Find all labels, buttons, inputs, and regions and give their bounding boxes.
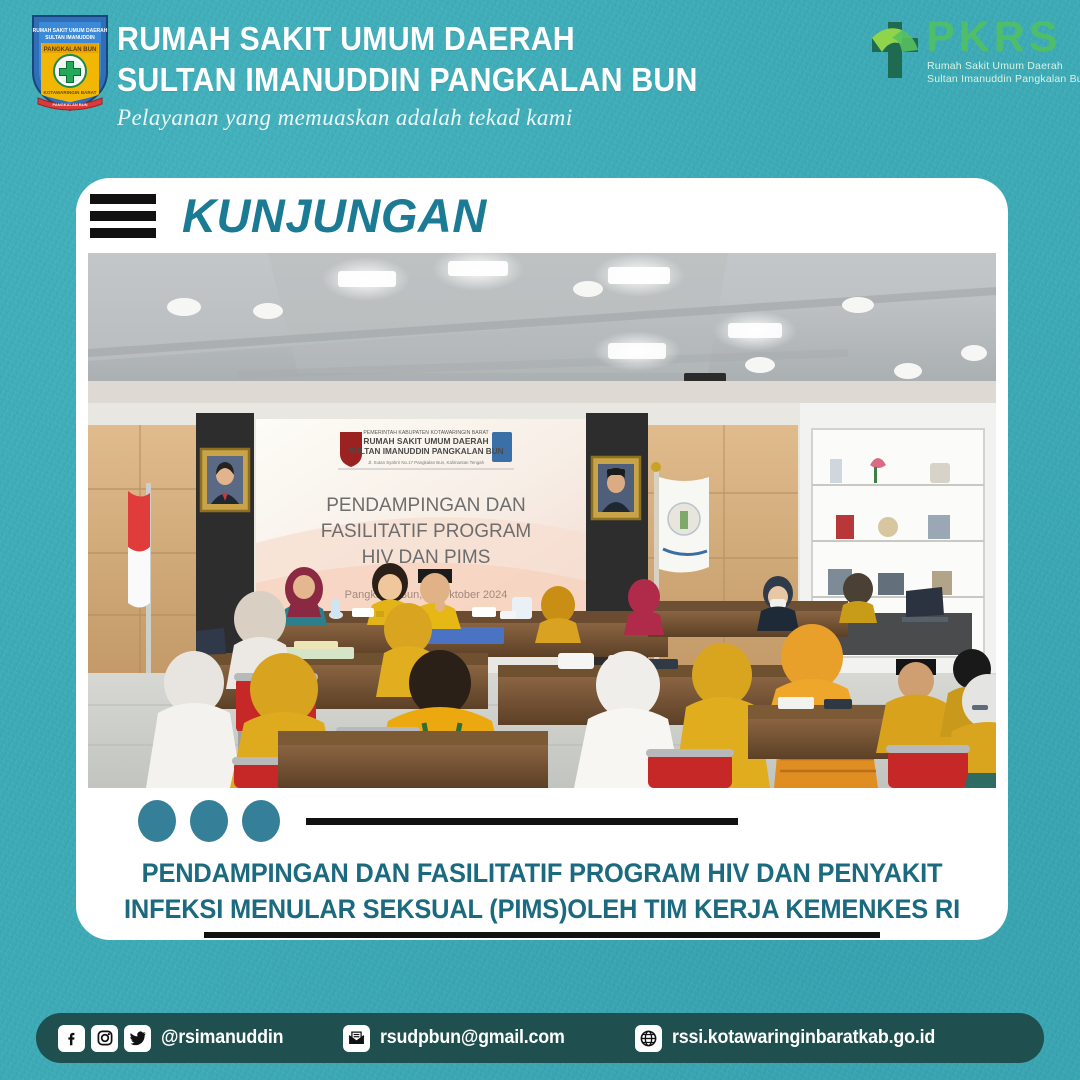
caption-bottom-rule <box>204 932 880 938</box>
pkrs-logo: PKRS Rumah Sakit Umum Daerah Sultan Iman… <box>868 18 1058 90</box>
caption-decoration <box>138 800 738 842</box>
facebook-icon[interactable] <box>58 1025 85 1052</box>
pkrs-cross-icon <box>868 20 922 80</box>
caption-dot-3 <box>242 800 280 842</box>
hospital-shield-logo: RUMAH SAKIT UMUM DAERAH SULTAN IMANUDDIN… <box>28 10 112 114</box>
svg-text:RUMAH SAKIT UMUM DAERAH: RUMAH SAKIT UMUM DAERAH <box>363 436 488 446</box>
instagram-icon[interactable] <box>91 1025 118 1052</box>
svg-text:RUMAH SAKIT UMUM DAERAH: RUMAH SAKIT UMUM DAERAH <box>33 28 108 34</box>
card-title-row: KUNJUNGAN <box>76 178 1008 253</box>
header-tagline: Pelayanan yang memuaskan adalah tekad ka… <box>117 105 677 131</box>
caption-top-rule <box>306 818 738 825</box>
twitter-icon[interactable] <box>124 1025 151 1052</box>
social-handle[interactable]: @rsimanuddin <box>161 1027 283 1049</box>
envelope-icon[interactable] <box>343 1025 370 1052</box>
caption-dot-1 <box>138 800 176 842</box>
header-title-line1: RUMAH SAKIT UMUM DAERAH <box>117 22 632 55</box>
website-text[interactable]: rssi.kotawaringinbaratkab.go.id <box>672 1027 935 1049</box>
svg-text:SULTAN IMANUDDIN: SULTAN IMANUDDIN <box>45 35 95 41</box>
content-card: KUNJUNGAN <box>76 178 1008 940</box>
caption-line-2: INFEKSI MENULAR SEKSUAL (PIMS)OLEH TIM K… <box>95 894 990 925</box>
hamburger-menu-icon[interactable] <box>90 194 156 238</box>
globe-icon[interactable] <box>635 1025 662 1052</box>
poster-header: RUMAH SAKIT UMUM DAERAH SULTAN IMANUDDIN… <box>0 0 1080 152</box>
pkrs-subtitle-line1: Rumah Sakit Umum Daerah <box>927 60 1063 72</box>
svg-text:Jl. Sutan Syahrir No.17 Pangka: Jl. Sutan Syahrir No.17 Pangkalan Bun, K… <box>368 460 485 465</box>
svg-text:FASILITATIF PROGRAM: FASILITATIF PROGRAM <box>321 521 531 542</box>
header-title-line2: SULTAN IMANUDDIN PANGKALAN BUN <box>117 63 632 96</box>
svg-text:PENDAMPINGAN DAN: PENDAMPINGAN DAN <box>326 495 526 516</box>
poster-canvas: RUMAH SAKIT UMUM DAERAH SULTAN IMANUDDIN… <box>0 0 1080 1080</box>
svg-text:KOTAWARINGIN BARAT: KOTAWARINGIN BARAT <box>44 90 97 95</box>
caption-block: PENDAMPINGAN DAN FASILITATIF PROGRAM HIV… <box>76 792 1008 940</box>
pkrs-subtitle-line2: Sultan Imanuddin Pangkalan Bun <box>927 73 1080 85</box>
svg-text:PANGKALAN BUN: PANGKALAN BUN <box>44 47 97 53</box>
header-title-group: RUMAH SAKIT UMUM DAERAH SULTAN IMANUDDIN… <box>117 22 677 131</box>
hamburger-bar-3 <box>90 228 156 238</box>
caption-line-1: PENDAMPINGAN DAN FASILITATIF PROGRAM HIV… <box>95 858 990 889</box>
hamburger-bar-2 <box>90 211 156 221</box>
contact-footer: @rsimanuddin rsudpbun@gmail.com rssi.k <box>36 1013 1044 1063</box>
caption-dot-2 <box>190 800 228 842</box>
page-title: KUNJUNGAN <box>182 188 487 243</box>
event-photo: PEMERINTAH KABUPATEN KOTAWARINGIN BARAT … <box>88 253 996 788</box>
pkrs-wordmark: PKRS <box>926 15 1061 59</box>
hamburger-bar-1 <box>90 194 156 204</box>
svg-text:HIV DAN PIMS: HIV DAN PIMS <box>362 547 491 568</box>
svg-text:SULTAN IMANUDDIN PANGKALAN BUN: SULTAN IMANUDDIN PANGKALAN BUN <box>348 447 503 456</box>
email-text[interactable]: rsudpbun@gmail.com <box>380 1027 565 1049</box>
svg-text:PANGKALAN BUN: PANGKALAN BUN <box>52 102 87 107</box>
